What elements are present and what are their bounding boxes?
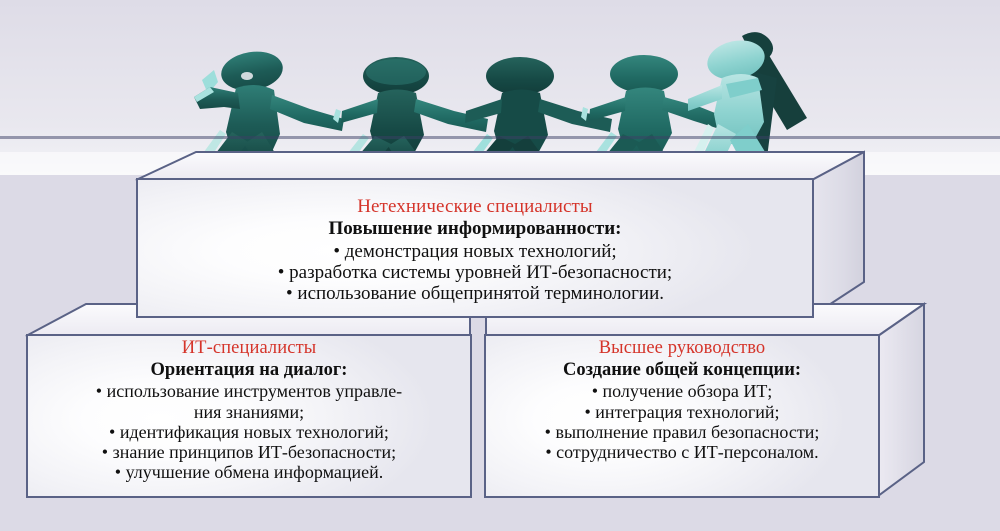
top-step-top-face — [136, 152, 864, 180]
top-step-title: Нетехнические специалисты — [140, 196, 810, 217]
left-step-item-2: • идентификация новых технологий; — [28, 422, 470, 442]
right-step-right-face — [878, 304, 924, 496]
right-step-item-1: • получение обзора ИТ; — [486, 381, 878, 401]
left-step-item-1: • использование инструментов управле- — [28, 381, 470, 401]
top-step-item-2: • разработка системы уровней ИТ-безопасн… — [140, 262, 810, 283]
left-step-item-4: • улучшение обмена информацией. — [28, 462, 470, 482]
right-step-item-3: • выполнение правил безопасности; — [486, 422, 878, 442]
right-step-subtitle: Создание общей концепции: — [486, 360, 878, 381]
top-step-item-3: • использование общепринятой терминологи… — [140, 283, 810, 304]
left-step-item-3: • знание принципов ИТ-безопасности; — [28, 442, 470, 462]
right-step-title: Высшее руководство — [486, 338, 878, 359]
top-step-right-face — [812, 152, 864, 316]
top-step-item-1: • демонстрация новых технологий; — [140, 241, 810, 262]
diagram-canvas: Нетехнические специалисты Повышение инфо… — [0, 0, 1000, 531]
left-step-title: ИТ-специалисты — [28, 338, 470, 359]
right-step-item-2: • интеграция технологий; — [486, 402, 878, 422]
right-step-text-panel: Высшее руководство Создание общей концеп… — [486, 338, 878, 462]
top-step-text-panel: Нетехнические специалисты Повышение инфо… — [140, 196, 810, 304]
left-step-item-1-cont: ния знаниями; — [28, 402, 470, 422]
left-step-subtitle: Ориентация на диалог: — [28, 360, 470, 381]
right-step-item-4: • сотрудничество с ИТ-персоналом. — [486, 442, 878, 462]
left-step-text-panel: ИТ-специалисты Ориентация на диалог: • и… — [28, 338, 470, 482]
top-step-subtitle: Повышение информированности: — [140, 218, 810, 239]
